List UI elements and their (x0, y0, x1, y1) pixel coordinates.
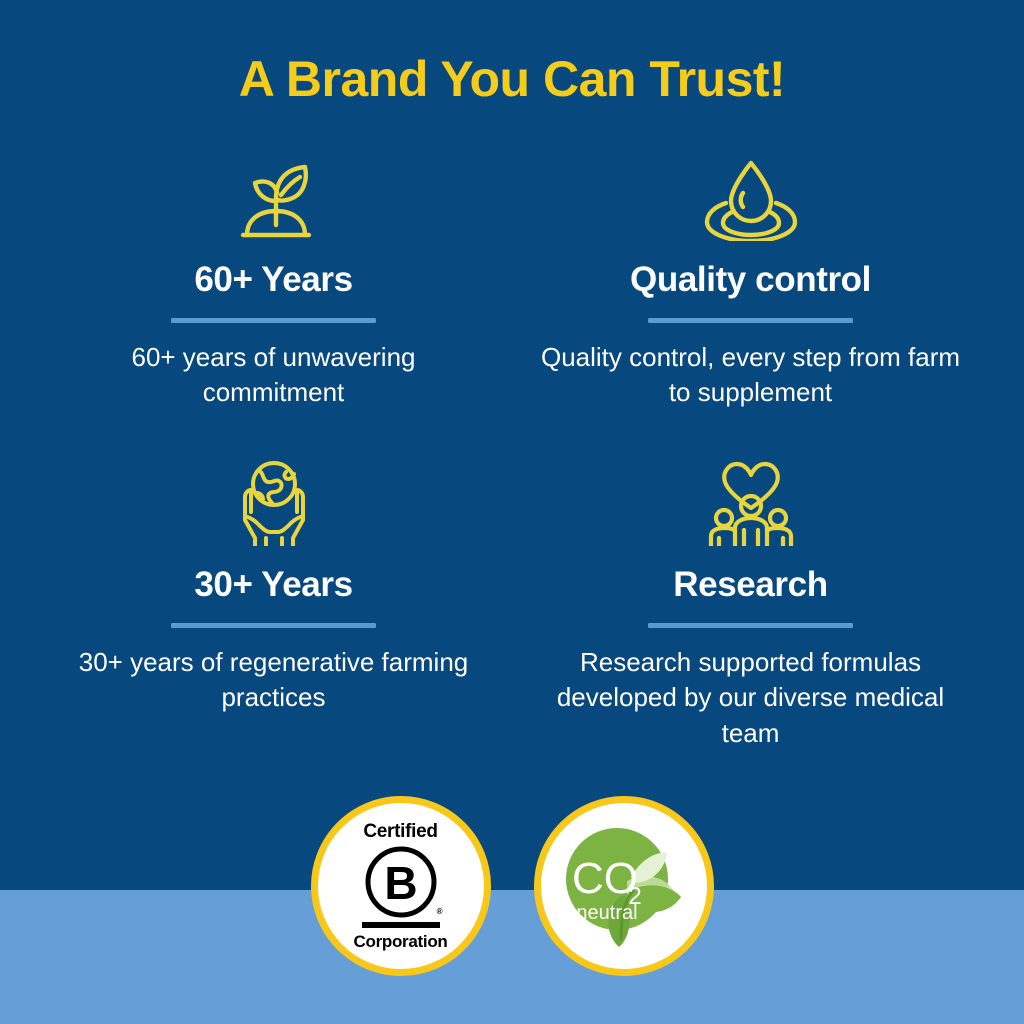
registered-trademark-icon: ® (437, 908, 443, 916)
feature-heading: 60+ Years (194, 262, 352, 299)
co2-neutral-label: neutral (576, 902, 637, 924)
svg-text:B: B (384, 857, 417, 909)
feature-body: 30+ years of regenerative farming practi… (64, 645, 484, 716)
hands-holding-globe-icon (230, 455, 318, 551)
water-droplet-icon (699, 150, 803, 246)
sprout-icon (235, 150, 313, 246)
feature-heading: 30+ Years (194, 567, 352, 604)
feature-divider (171, 623, 376, 628)
co2-neutral-badge: CO 2 neutral (534, 796, 714, 976)
feature-item-30-years: 30+ Years 30+ years of regenerative farm… (40, 455, 507, 752)
feature-item-research: Research Research supported formulas dev… (517, 455, 984, 752)
feature-item-60-years: 60+ Years 60+ years of unwavering commit… (40, 150, 507, 411)
feature-item-quality-control: Quality control Quality control, every s… (517, 150, 984, 411)
b-corp-corporation-label: Corporation (354, 933, 448, 950)
b-corp-circled-b-mark: B ® (364, 845, 438, 919)
feature-body: 60+ years of unwavering commitment (64, 340, 484, 411)
feature-divider (171, 318, 376, 323)
certification-badges: Certified B ® Corporation (0, 796, 1024, 976)
page-title: A Brand You Can Trust! (0, 52, 1024, 107)
feature-divider (648, 318, 853, 323)
feature-divider (648, 623, 853, 628)
promotional-poster: A Brand You Can Trust! (0, 0, 1024, 1024)
feature-heading: Quality control (630, 262, 871, 299)
b-corp-certified-badge: Certified B ® Corporation (311, 796, 491, 976)
feature-body: Quality control, every step from farm to… (541, 340, 961, 411)
co2-neutral-logo: CO 2 neutral (549, 811, 699, 961)
b-corp-rule (362, 922, 440, 928)
feature-grid: 60+ Years 60+ years of unwavering commit… (40, 150, 984, 752)
b-corp-certified-label: Certified (363, 822, 437, 841)
feature-body: Research supported formulas developed by… (541, 645, 961, 752)
b-corp-logo: Certified B ® Corporation (354, 822, 448, 950)
feature-heading: Research (673, 567, 827, 604)
people-heart-icon (703, 455, 799, 551)
